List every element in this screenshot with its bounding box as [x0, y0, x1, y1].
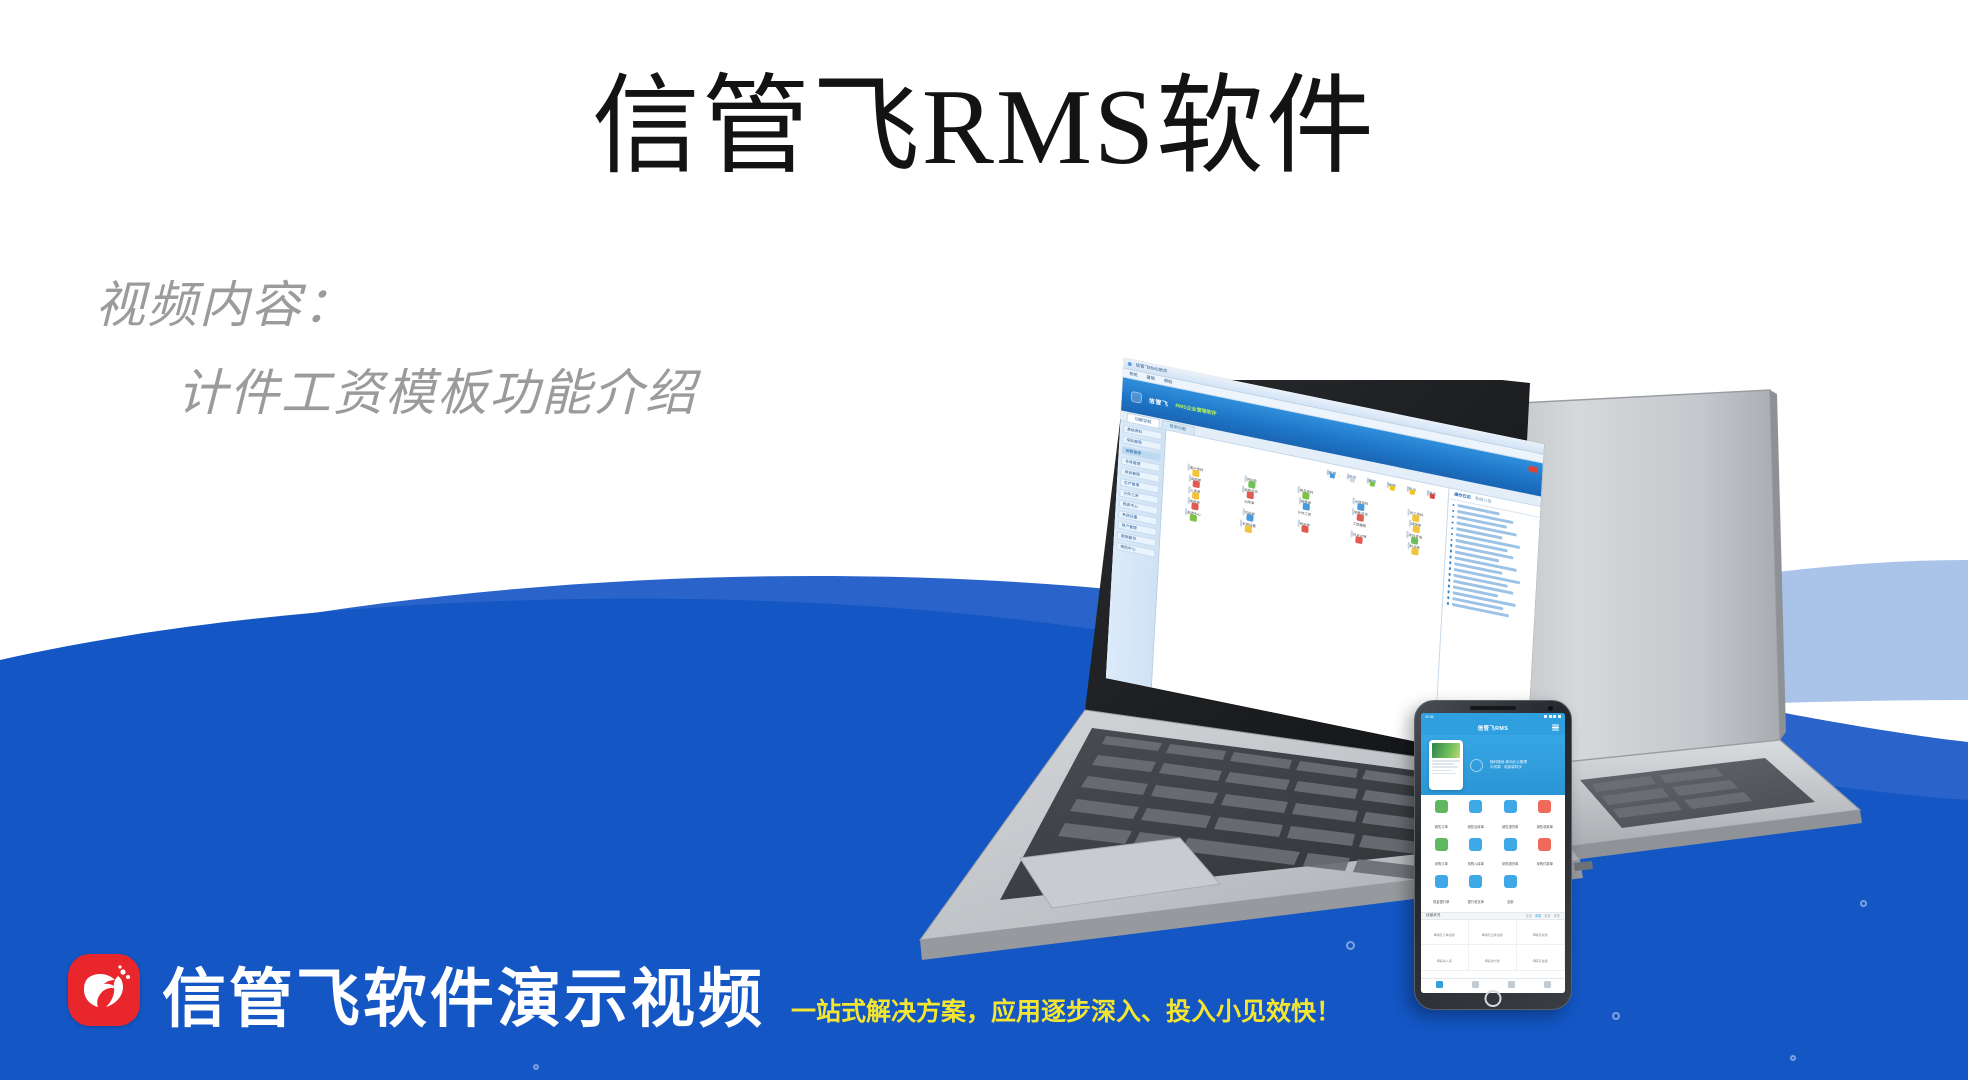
- stats-period-segments: 今日 本周 本月 本年: [1526, 913, 1561, 918]
- shortcut-purchase-return[interactable]: 采购退货单: [1493, 838, 1528, 871]
- presentation-slide: 信管飞RMS软件 视频内容： 计件工资模板功能介绍: [0, 0, 1968, 1080]
- shortcut-purchase-order[interactable]: 采购订单: [1424, 838, 1459, 871]
- subtitle-block: 视频内容： 计件工资模板功能介绍: [95, 280, 697, 418]
- status-icons: [1544, 715, 1561, 718]
- phone-hero-banner: 随时随地 移动办公管理 手机端 · 电脑端同步: [1421, 735, 1565, 795]
- purchase-order-icon: [1189, 475, 1191, 482]
- receipt-icon: [1187, 497, 1189, 504]
- user-icon: [1544, 981, 1551, 988]
- decorative-dot: [1612, 1012, 1620, 1020]
- banner-logo-icon: [1131, 390, 1143, 403]
- inbound-icon: [1188, 486, 1190, 493]
- decorative-dot: [533, 1064, 539, 1070]
- shortcut-label: 销售订单: [1435, 825, 1448, 829]
- shortcut-sales-outbound[interactable]: 销售出库单: [1459, 800, 1494, 833]
- shortcut-label: 全部: [1507, 900, 1514, 904]
- bullet-icon: [1448, 591, 1450, 594]
- bullet-icon: [1449, 567, 1451, 570]
- subtitle-label: 视频内容：: [95, 280, 697, 330]
- banner-subtitle: RMS企业管理软件: [1175, 401, 1217, 416]
- xinguanfei-logo: [68, 954, 140, 1026]
- stats-title: 经营状况: [1426, 913, 1440, 918]
- chart-icon: [1508, 981, 1515, 988]
- phone-mockup: 09:36 信管飞RMS: [1414, 700, 1572, 1010]
- bullet-icon: [1452, 521, 1454, 524]
- stat-label: 销售订单金额: [1436, 933, 1455, 937]
- menu-item-help[interactable]: 帮助: [1164, 378, 1173, 386]
- shortcut-sales-order[interactable]: 销售订单: [1424, 800, 1459, 833]
- bullet-icon: [1449, 562, 1451, 565]
- banner-title: 信管飞: [1149, 395, 1169, 408]
- purchase-payment-icon: [1538, 838, 1551, 851]
- sales-order-icon: [1435, 800, 1448, 813]
- nav-item-profile[interactable]: 我的: [1529, 979, 1565, 993]
- stat-label: 销售收款: [1535, 933, 1547, 937]
- exit-icon: [1427, 490, 1429, 496]
- logo-bird-icon: [68, 954, 140, 1026]
- status-time: 09:36: [1425, 715, 1434, 719]
- segment-week[interactable]: 本周: [1535, 913, 1541, 918]
- segment-month[interactable]: 本月: [1544, 913, 1550, 918]
- shortcut-label: 销售退货单: [1502, 825, 1518, 829]
- shortcut-label: 销售收款单: [1537, 825, 1553, 829]
- shortcut-sales-return[interactable]: 销售退货单: [1493, 800, 1528, 833]
- hero-lines: [1432, 760, 1460, 774]
- phone-status-bar: 09:36: [1421, 713, 1565, 720]
- close-icon[interactable]: [1528, 465, 1537, 473]
- stat-cell: 0采购付款: [1469, 945, 1517, 971]
- brand-tagline: 一站式解决方案，应用逐步深入、投入小见效快！: [791, 999, 1341, 1024]
- supplier-icon: [1244, 475, 1246, 482]
- document-icon: [1472, 981, 1479, 988]
- decorative-dot: [1790, 1055, 1796, 1061]
- phone-speaker: [1470, 706, 1516, 710]
- shortcut-cash-bank[interactable]: 现金银行单: [1424, 875, 1459, 908]
- brand-bar: 信管飞软件演示视频 一站式解决方案，应用逐步深入、投入小见效快！: [68, 954, 1341, 1032]
- shortcut-bank-transaction[interactable]: 银行收支单: [1459, 875, 1494, 908]
- purchase-inbound-icon: [1469, 838, 1482, 851]
- sales-order-icon: [1299, 497, 1301, 504]
- stat-cell: 0库存金额: [1517, 945, 1565, 971]
- bullet-icon: [1452, 509, 1454, 512]
- phone-stats-header: 经营状况 今日 本周 本月 本年: [1421, 912, 1565, 920]
- home-icon: [1436, 981, 1443, 988]
- toolbar-button-add[interactable]: 新增: [1325, 470, 1338, 478]
- stat-label: 库存金额: [1535, 959, 1547, 963]
- bullet-icon: [1450, 550, 1452, 553]
- phone-camera-icon: [1548, 706, 1553, 711]
- bullet-icon: [1451, 538, 1453, 541]
- payment-icon: [1242, 508, 1244, 515]
- shortcut-label: 采购入库单: [1468, 862, 1484, 866]
- bullet-icon: [1451, 527, 1453, 530]
- toolbar-button-export[interactable]: 导出: [1405, 486, 1418, 494]
- brand-title: 信管飞软件演示视频: [162, 968, 765, 1032]
- hero-ring-icon: [1470, 759, 1483, 772]
- stat-cell: 0销售出库金额: [1469, 920, 1517, 946]
- shortcut-label: 采购退货单: [1502, 862, 1518, 866]
- device-mockup-group: 信管飞RMS软件 系统 基础 帮助 信管飞 RMS企业管理软件 功能导航 常用功…: [880, 380, 1968, 980]
- toolbar-button-edit[interactable]: 修改: [1345, 474, 1358, 482]
- shortcut-all[interactable]: 全部: [1493, 875, 1528, 908]
- bullet-icon: [1450, 556, 1452, 559]
- sales-outbound-icon: [1469, 800, 1482, 813]
- delete-icon: [1367, 477, 1369, 483]
- stat-label: 采购付款: [1487, 959, 1499, 963]
- bullet-icon: [1448, 585, 1450, 588]
- segment-year[interactable]: 本年: [1554, 913, 1560, 918]
- cash-bank-icon: [1435, 875, 1448, 888]
- hero-image: [1432, 743, 1460, 758]
- stat-label: 采购入库: [1439, 959, 1451, 963]
- stat-cell: 0销售收款: [1517, 920, 1565, 946]
- refresh-icon: [1387, 482, 1389, 488]
- bullet-icon: [1447, 596, 1449, 599]
- phone-home-button[interactable]: [1485, 990, 1502, 1007]
- tab-announcement[interactable]: 系统公告: [1475, 496, 1492, 505]
- bullet-icon: [1447, 602, 1449, 605]
- shortcut-label: 银行收支单: [1468, 900, 1484, 904]
- hero-text: 随时随地 移动办公管理 手机端 · 电脑端同步: [1490, 760, 1527, 771]
- wifi-icon: [1549, 715, 1552, 718]
- segment-today[interactable]: 今日: [1526, 913, 1532, 918]
- window-app-icon: [1128, 362, 1132, 367]
- shortcut-spacer: [1528, 875, 1563, 908]
- phone-appbar: 信管飞RMS: [1421, 720, 1565, 735]
- bullet-icon: [1448, 579, 1450, 582]
- stat-cell: 0采购入库: [1421, 945, 1469, 971]
- toolbar-button-delete[interactable]: 删除: [1365, 478, 1378, 486]
- bullet-icon: [1449, 573, 1451, 576]
- export-icon: [1407, 486, 1409, 492]
- stat-label: 销售出库金额: [1484, 933, 1503, 937]
- signal-icon: [1553, 715, 1556, 718]
- transfer-icon: [1409, 520, 1411, 527]
- bullet-icon: [1453, 503, 1455, 506]
- bullet-icon: [1451, 532, 1453, 535]
- sales-receipt-icon: [1538, 800, 1551, 813]
- toolbar-button-exit[interactable]: 退出: [1425, 490, 1438, 498]
- slide-title: 信管飞RMS软件: [0, 62, 1968, 194]
- menu-item-base[interactable]: 基础: [1146, 374, 1155, 382]
- shortcut-purchase-payment[interactable]: 采购付款单: [1528, 838, 1563, 871]
- menu-item-system[interactable]: 系统: [1129, 371, 1138, 379]
- battery-icon: [1558, 715, 1561, 718]
- bullet-icon: [1450, 544, 1452, 547]
- phone-shortcut-grid: 销售订单 销售出库单 销售退货单 销售收款单 采购订单 采购入库单 采购退货单 …: [1421, 795, 1565, 912]
- phone-stats-grid: 0销售订单金额 0销售出库金额 0销售收款 0采购入库 0采购付款 0库存金额: [1421, 920, 1565, 971]
- appbar-title: 信管飞RMS: [1478, 724, 1509, 732]
- bank-transaction-icon: [1469, 875, 1482, 888]
- hero-text-line2: 手机端 · 电脑端同步: [1490, 765, 1527, 770]
- profit-icon: [1407, 542, 1409, 549]
- hamburger-icon[interactable]: [1552, 724, 1559, 731]
- stat-cell: 0销售订单金额: [1421, 920, 1469, 946]
- nav-item-home[interactable]: 首页: [1421, 979, 1457, 993]
- shortcut-label: 现金银行单: [1433, 900, 1449, 904]
- grid-all-icon: [1504, 875, 1517, 888]
- nav-item-analytics[interactable]: 统计分析: [1493, 979, 1529, 993]
- tab-operation-log[interactable]: 操作日志: [1454, 491, 1471, 500]
- shortcut-label: 销售出库单: [1468, 825, 1484, 829]
- edit-icon: [1347, 473, 1349, 479]
- purchase-return-icon: [1504, 838, 1517, 851]
- shortcut-sales-receipt[interactable]: 销售收款单: [1528, 800, 1563, 833]
- bluetooth-icon: [1544, 715, 1547, 718]
- expense-icon: [1297, 519, 1299, 526]
- phone-screen: 09:36 信管飞RMS: [1421, 713, 1565, 993]
- shortcut-label: 采购订单: [1435, 862, 1448, 866]
- shortcut-purchase-inbound[interactable]: 采购入库单: [1459, 838, 1494, 871]
- add-icon: [1327, 469, 1329, 475]
- subtitle-topic: 计件工资模板功能介绍: [177, 368, 697, 418]
- hero-phone-illustration: [1429, 740, 1463, 790]
- sales-return-icon: [1504, 800, 1517, 813]
- toolbar-button-refresh[interactable]: 刷新: [1385, 482, 1398, 490]
- shortcut-label: 采购付款单: [1537, 862, 1553, 866]
- purchase-order-icon: [1435, 838, 1448, 851]
- bullet-icon: [1452, 515, 1454, 518]
